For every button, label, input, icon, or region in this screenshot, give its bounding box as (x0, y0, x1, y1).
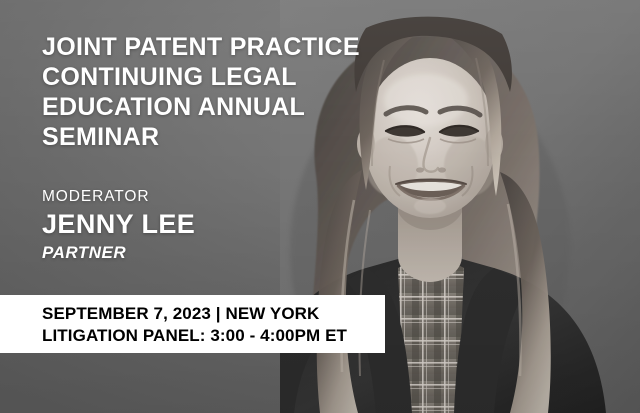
title-line-4: SEMINAR (42, 122, 372, 152)
page-title: JOINT PATENT PRACTICE CONTINUING LEGAL E… (42, 32, 372, 152)
title-line-1: JOINT PATENT PRACTICE (42, 32, 372, 62)
speaker-name: JENNY LEE (42, 208, 195, 241)
event-details-banner: SEPTEMBER 7, 2023 | NEW YORK LITIGATION … (0, 295, 385, 353)
event-promo-card: JOINT PATENT PRACTICE CONTINUING LEGAL E… (0, 0, 640, 413)
event-details-text: SEPTEMBER 7, 2023 | NEW YORK LITIGATION … (42, 303, 347, 346)
speaker-credit: MODERATOR JENNY LEE PARTNER (42, 186, 195, 264)
title-line-3: EDUCATION ANNUAL (42, 92, 372, 122)
event-session-time: LITIGATION PANEL: 3:00 - 4:00PM ET (42, 325, 347, 347)
speaker-role-label: MODERATOR (42, 186, 195, 207)
event-date-location: SEPTEMBER 7, 2023 | NEW YORK (42, 303, 347, 325)
title-line-2: CONTINUING LEGAL (42, 62, 372, 92)
speaker-title: PARTNER (42, 241, 195, 264)
